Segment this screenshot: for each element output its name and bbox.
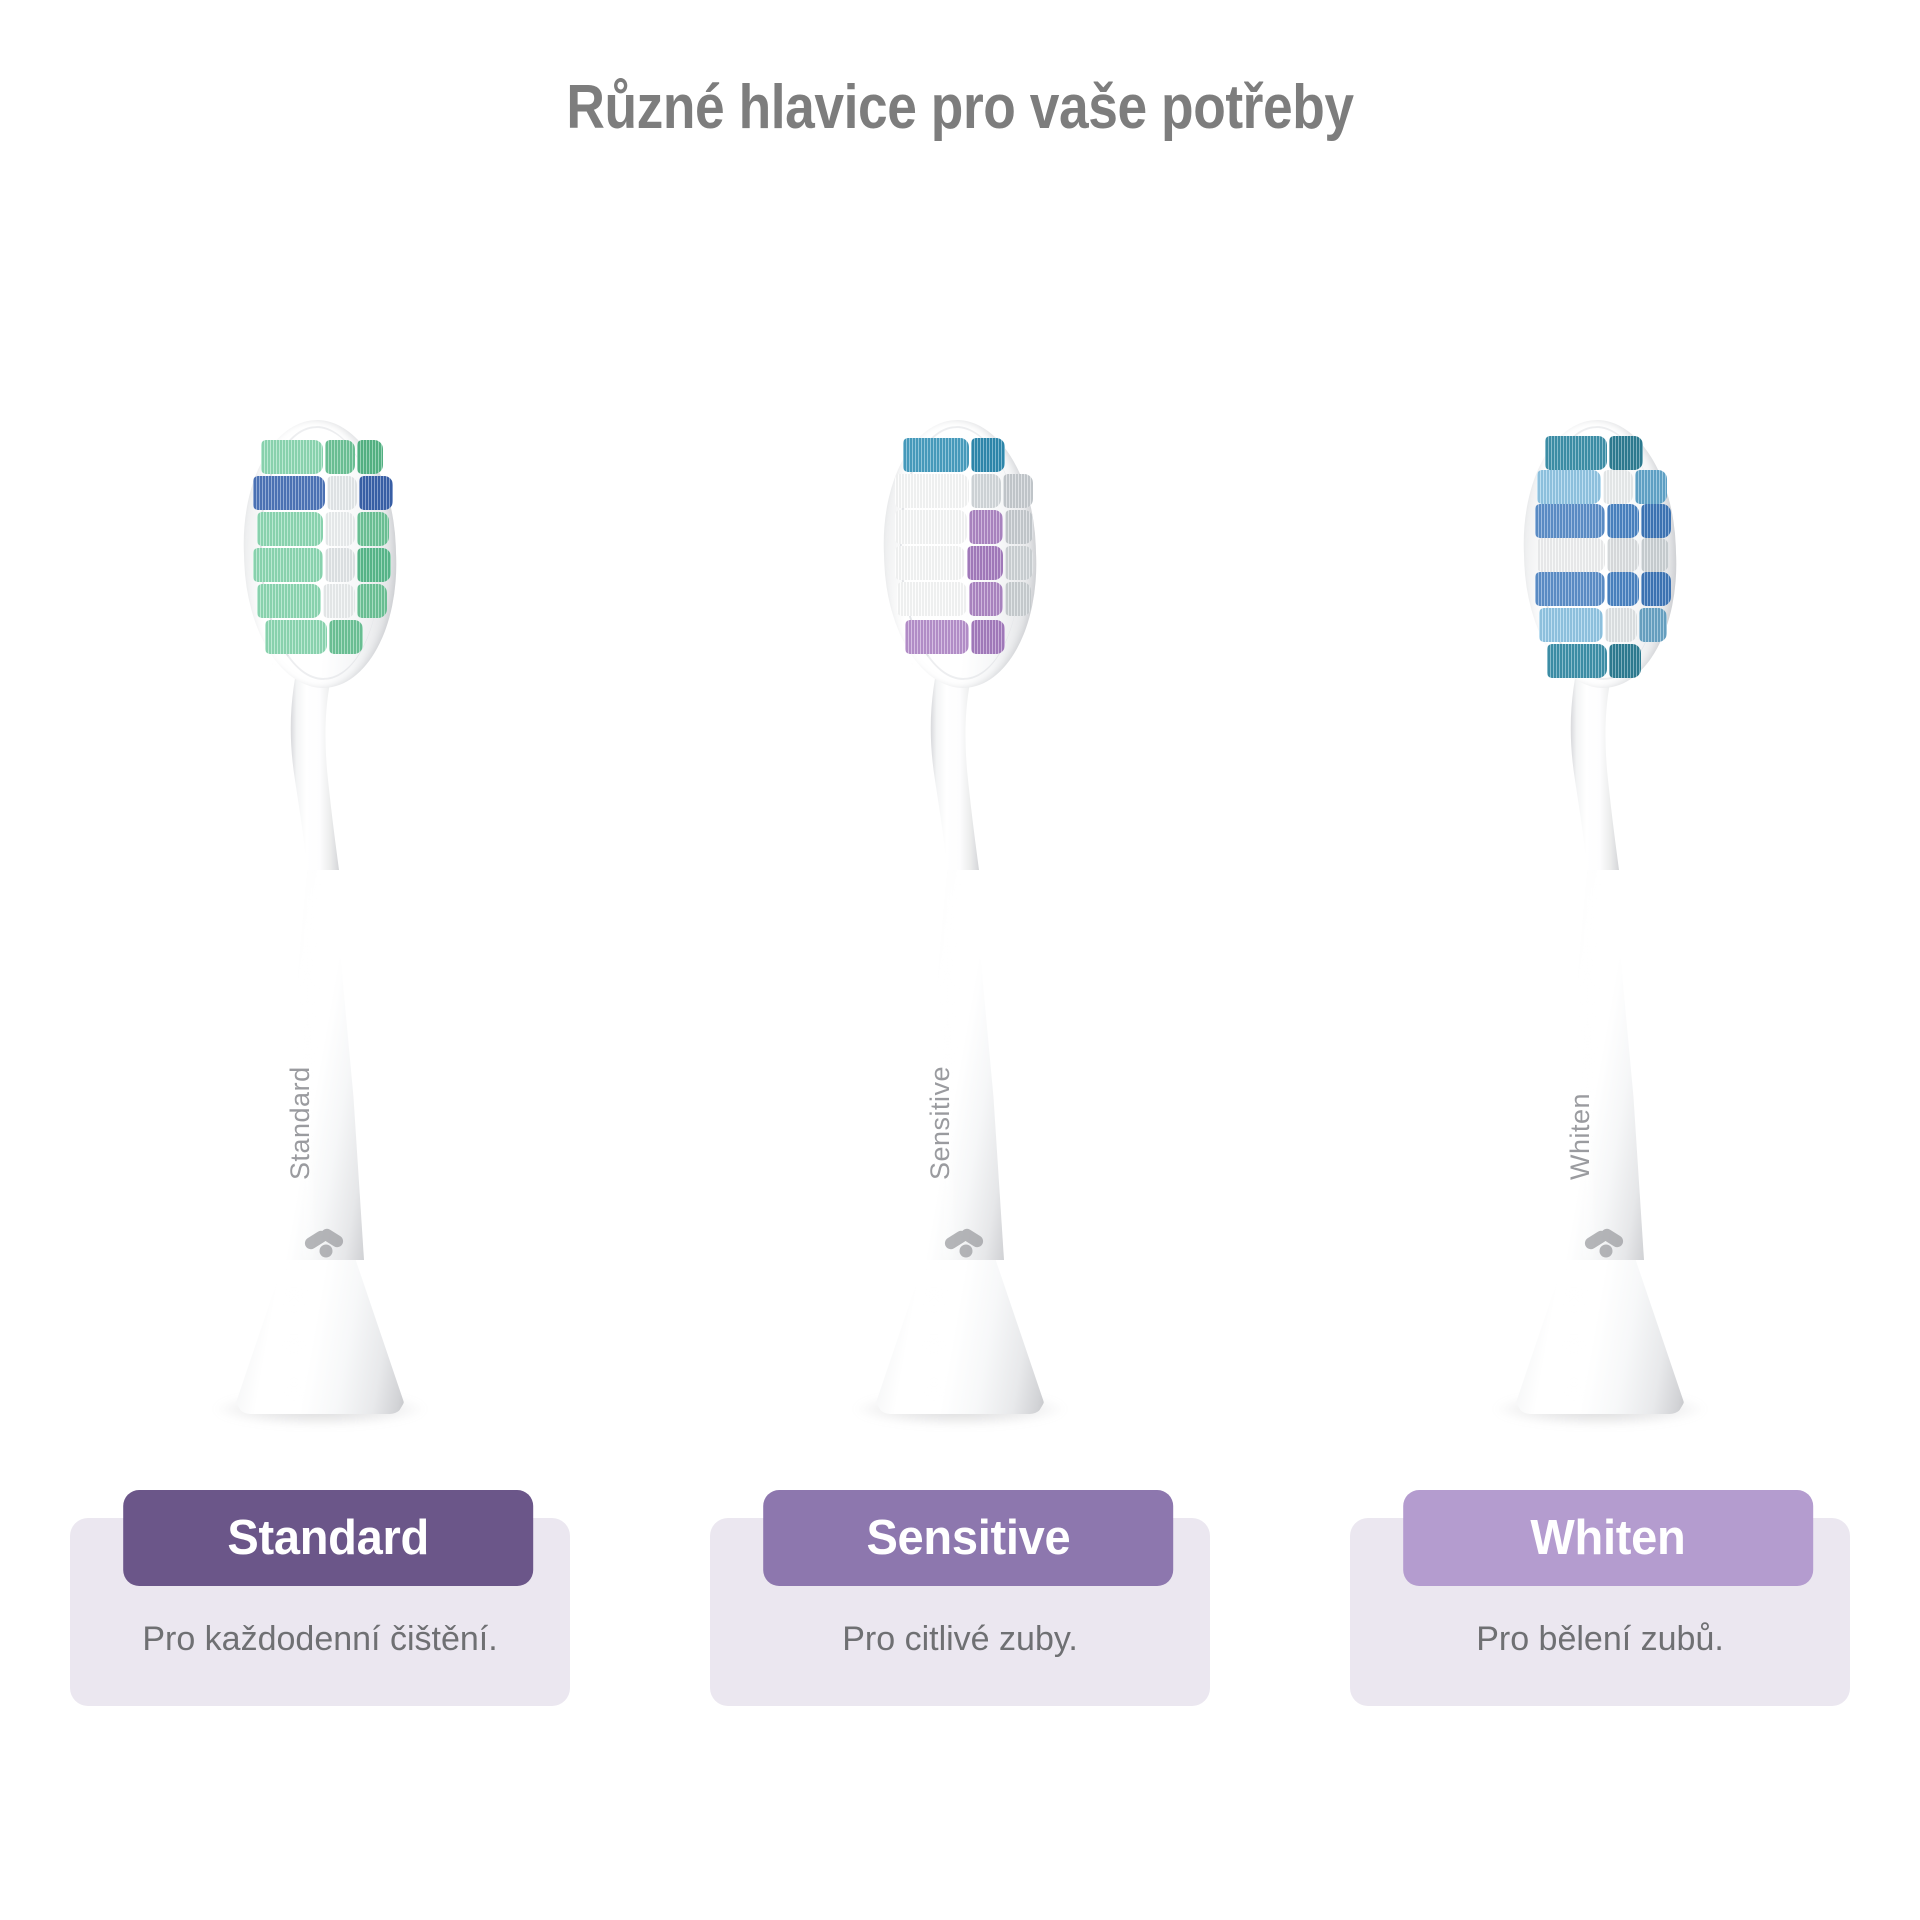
handle-shaft xyxy=(916,830,1004,1260)
bristle-row xyxy=(1535,504,1673,538)
bristle-row xyxy=(895,474,1035,508)
bristle-tuft xyxy=(1005,510,1033,544)
bristle-row xyxy=(905,620,1007,654)
brand-chevron-dot-icon xyxy=(300,1216,346,1262)
label-card-standard[interactable]: Standard Pro každodenní čištění. xyxy=(0,1490,640,1750)
bristle-tuft xyxy=(1537,538,1605,572)
bristle-tuft xyxy=(1635,470,1667,504)
bristle-tuft xyxy=(1609,436,1643,470)
bristle-tuft xyxy=(1607,504,1639,538)
bristle-row xyxy=(265,620,365,654)
bristle-tuft xyxy=(897,582,967,616)
handle-shaft xyxy=(1556,830,1644,1260)
bristle-field xyxy=(875,432,1045,680)
toothbrush-illustration: Standard xyxy=(170,420,470,1430)
card-description: Pro každodenní čištění. xyxy=(70,1620,570,1659)
bristle-tuft xyxy=(1005,546,1033,580)
bristle-row xyxy=(1535,572,1673,606)
bristle-tuft xyxy=(359,476,393,510)
card-badge-standard[interactable]: Standard xyxy=(123,1490,533,1586)
brush-head-whiten[interactable]: Whiten xyxy=(1280,420,1920,1450)
brush-head-row: Standard xyxy=(0,420,1920,1450)
bristle-tuft xyxy=(1545,436,1607,470)
bristle-tuft xyxy=(1607,538,1639,572)
label-card-whiten[interactable]: Whiten Pro bělení zubů. xyxy=(1280,1490,1920,1750)
bristle-tuft xyxy=(1641,504,1671,538)
bristle-tuft xyxy=(971,438,1005,472)
brand-chevron-dot-icon xyxy=(940,1216,986,1262)
bristle-row xyxy=(1547,644,1643,678)
bristle-tuft xyxy=(1539,608,1603,642)
bristle-tuft xyxy=(967,546,1003,580)
card-badge-whiten[interactable]: Whiten xyxy=(1403,1490,1813,1586)
bristle-tuft xyxy=(357,548,391,582)
handle-shaft xyxy=(276,830,364,1260)
bristle-tuft xyxy=(1605,608,1637,642)
bristle-tuft xyxy=(253,548,323,582)
bristle-tuft xyxy=(325,512,355,546)
bristle-tuft xyxy=(327,476,357,510)
bristle-row xyxy=(1545,436,1645,470)
bristle-tuft xyxy=(969,510,1003,544)
bristle-row xyxy=(253,476,395,510)
card-badge-sensitive[interactable]: Sensitive xyxy=(763,1490,1173,1586)
card-badge-label: Standard xyxy=(227,1510,429,1566)
bristle-tuft xyxy=(1641,538,1669,572)
bristle-tuft xyxy=(895,510,967,544)
label-card-row: Standard Pro každodenní čištění. Sensiti… xyxy=(0,1490,1920,1750)
bristle-tuft xyxy=(1005,582,1031,616)
bristle-tuft xyxy=(1537,470,1601,504)
handle-engraved-label: Sensitive xyxy=(925,1066,956,1180)
bristle-row xyxy=(895,510,1035,544)
bristle-tuft xyxy=(903,438,969,472)
bristle-tuft xyxy=(969,582,1003,616)
bristle-row xyxy=(897,582,1033,616)
bristle-tuft xyxy=(971,474,1001,508)
bristle-field xyxy=(235,432,405,680)
bristle-row xyxy=(1539,608,1669,642)
toothbrush-illustration: Whiten xyxy=(1450,420,1750,1430)
bristle-tuft xyxy=(325,548,355,582)
toothbrush-illustration: Sensitive xyxy=(810,420,1110,1430)
brand-chevron-dot-icon xyxy=(1580,1216,1626,1262)
bristle-tuft xyxy=(1639,608,1667,642)
card-badge-label: Whiten xyxy=(1531,1510,1686,1566)
bristle-tuft xyxy=(253,476,325,510)
bristle-tuft xyxy=(357,512,389,546)
bristle-tuft xyxy=(1003,474,1033,508)
bristle-tuft xyxy=(323,584,355,618)
brush-head-standard[interactable]: Standard xyxy=(0,420,640,1450)
bristle-tuft xyxy=(1609,644,1641,678)
card-description: Pro bělení zubů. xyxy=(1350,1620,1850,1659)
bristle-tuft xyxy=(329,620,363,654)
bristle-field xyxy=(1515,432,1685,680)
handle-engraved-label: Whiten xyxy=(1565,1093,1596,1180)
card-badge-label: Sensitive xyxy=(866,1510,1070,1566)
bristle-row xyxy=(257,512,391,546)
bristle-tuft xyxy=(1603,470,1633,504)
label-card-sensitive[interactable]: Sensitive Pro citlivé zuby. xyxy=(640,1490,1280,1750)
card-description: Pro citlivé zuby. xyxy=(710,1620,1210,1659)
bristle-tuft xyxy=(325,440,355,474)
bristle-tuft xyxy=(895,474,969,508)
bristle-tuft xyxy=(265,620,327,654)
bristle-tuft xyxy=(971,620,1005,654)
handle-engraved-label: Standard xyxy=(285,1066,316,1180)
bristle-row xyxy=(903,438,1007,472)
bristle-tuft xyxy=(261,440,323,474)
bristle-tuft xyxy=(1535,572,1605,606)
bristle-tuft xyxy=(1547,644,1607,678)
bristle-tuft xyxy=(1641,572,1671,606)
bristle-tuft xyxy=(895,546,965,580)
bristle-tuft xyxy=(257,584,321,618)
bristle-tuft xyxy=(257,512,323,546)
bristle-tuft xyxy=(1535,504,1605,538)
page-title: Různé hlavice pro vaše potřeby xyxy=(134,72,1785,143)
product-comparison-page: Různé hlavice pro vaše potřeby xyxy=(0,0,1920,1920)
bristle-row xyxy=(1537,538,1671,572)
brush-head-sensitive[interactable]: Sensitive xyxy=(640,420,1280,1450)
bristle-row xyxy=(257,584,389,618)
bristle-row xyxy=(253,548,393,582)
bristle-row xyxy=(895,546,1035,580)
bristle-tuft xyxy=(357,584,387,618)
bristle-tuft xyxy=(905,620,969,654)
bristle-row xyxy=(1537,470,1669,504)
bristle-row xyxy=(261,440,385,474)
bristle-tuft xyxy=(1607,572,1639,606)
bristle-tuft xyxy=(357,440,383,474)
